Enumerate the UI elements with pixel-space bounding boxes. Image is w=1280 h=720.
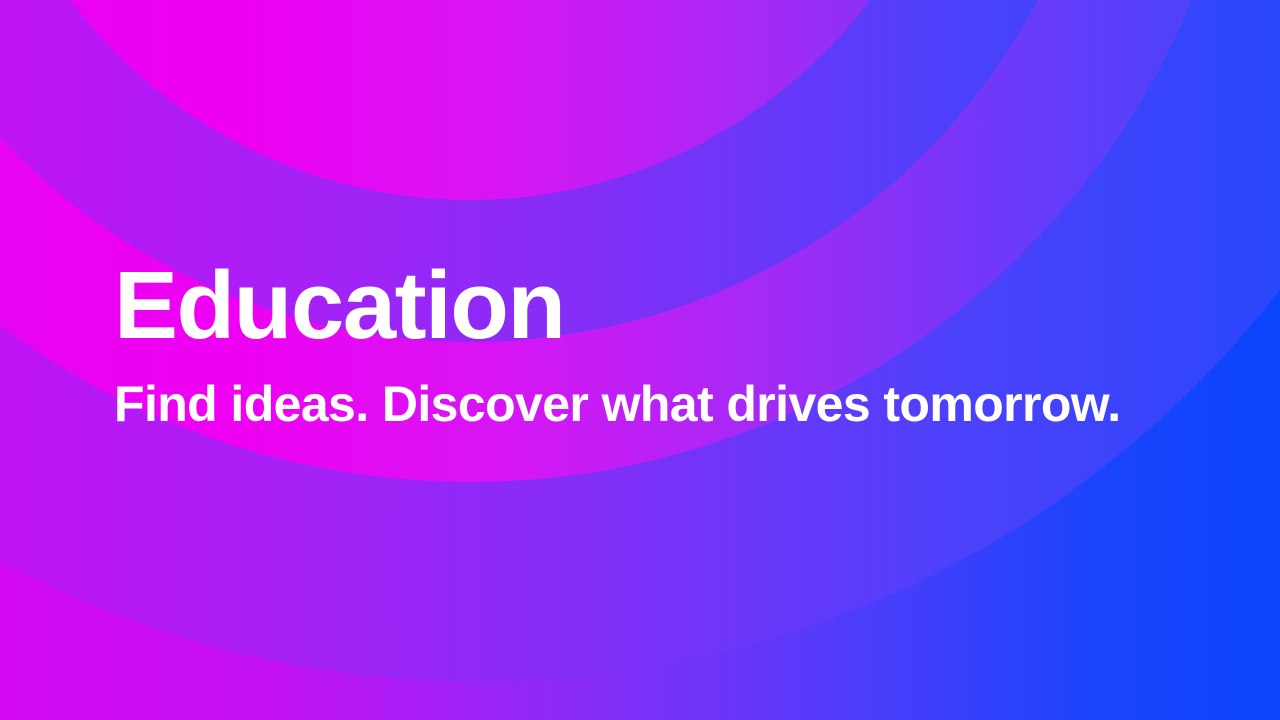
page-title: Education (114, 258, 1174, 354)
slide-content: Education Find ideas. Discover what driv… (0, 0, 1280, 720)
slide-canvas: Education Find ideas. Discover what driv… (0, 0, 1280, 720)
hero-text-block: Education Find ideas. Discover what driv… (114, 258, 1174, 434)
hero-subtitle: Find ideas. Discover what drives tomorro… (114, 354, 1174, 434)
